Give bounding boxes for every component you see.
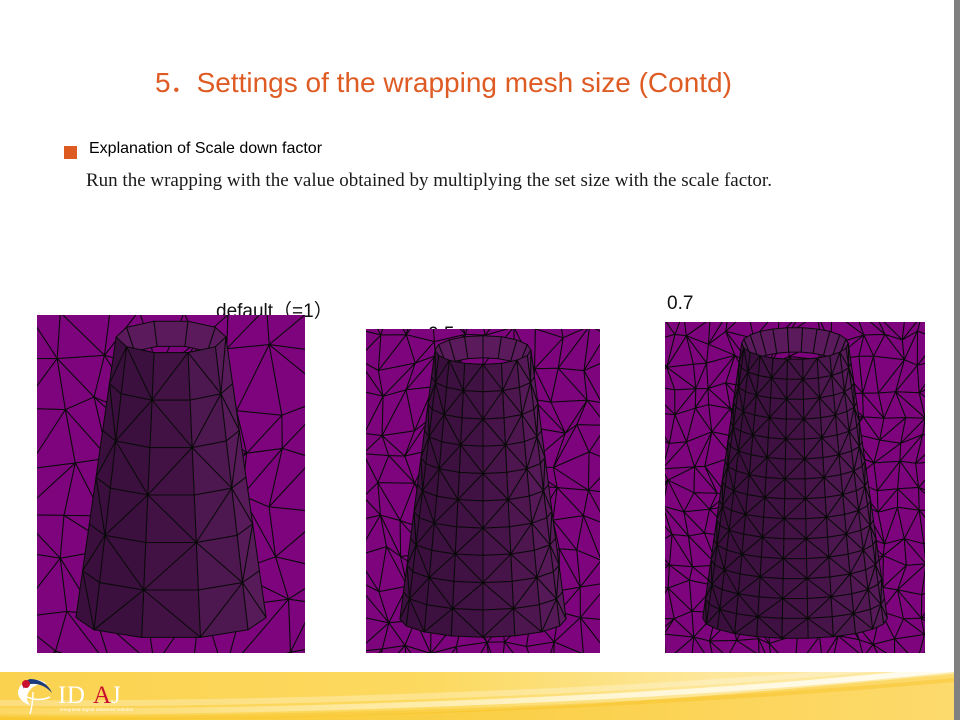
- body-paragraph: Run the wrapping with the value obtained…: [64, 168, 894, 193]
- mesh-figure-default: [37, 315, 305, 653]
- idaj-logo: ID A J integrated digital advanced solut…: [14, 676, 149, 716]
- slide-canvas: 5．Settings of the wrapping mesh size (Co…: [0, 0, 960, 720]
- title-number: 5．: [155, 67, 197, 98]
- mesh-figure-0-5: [366, 329, 600, 653]
- figure-label-0-7: 0.7: [667, 293, 693, 315]
- logo-text-id: ID: [58, 682, 85, 709]
- square-bullet-icon: [64, 146, 77, 159]
- bullet-heading-label: Explanation of Scale down factor: [89, 140, 322, 158]
- viewer-right-border: [954, 0, 960, 720]
- logo-tagline: integrated digital advanced solution: [60, 707, 134, 712]
- mesh-figure-0-7: [665, 322, 925, 653]
- bullet-heading-row: Explanation of Scale down factor: [64, 140, 322, 159]
- logo-text-a: A: [93, 682, 111, 709]
- title-text: Settings of the wrapping mesh size (Cont…: [197, 67, 732, 98]
- page-title: 5．Settings of the wrapping mesh size (Co…: [155, 64, 732, 102]
- logo-text-j: J: [111, 682, 121, 709]
